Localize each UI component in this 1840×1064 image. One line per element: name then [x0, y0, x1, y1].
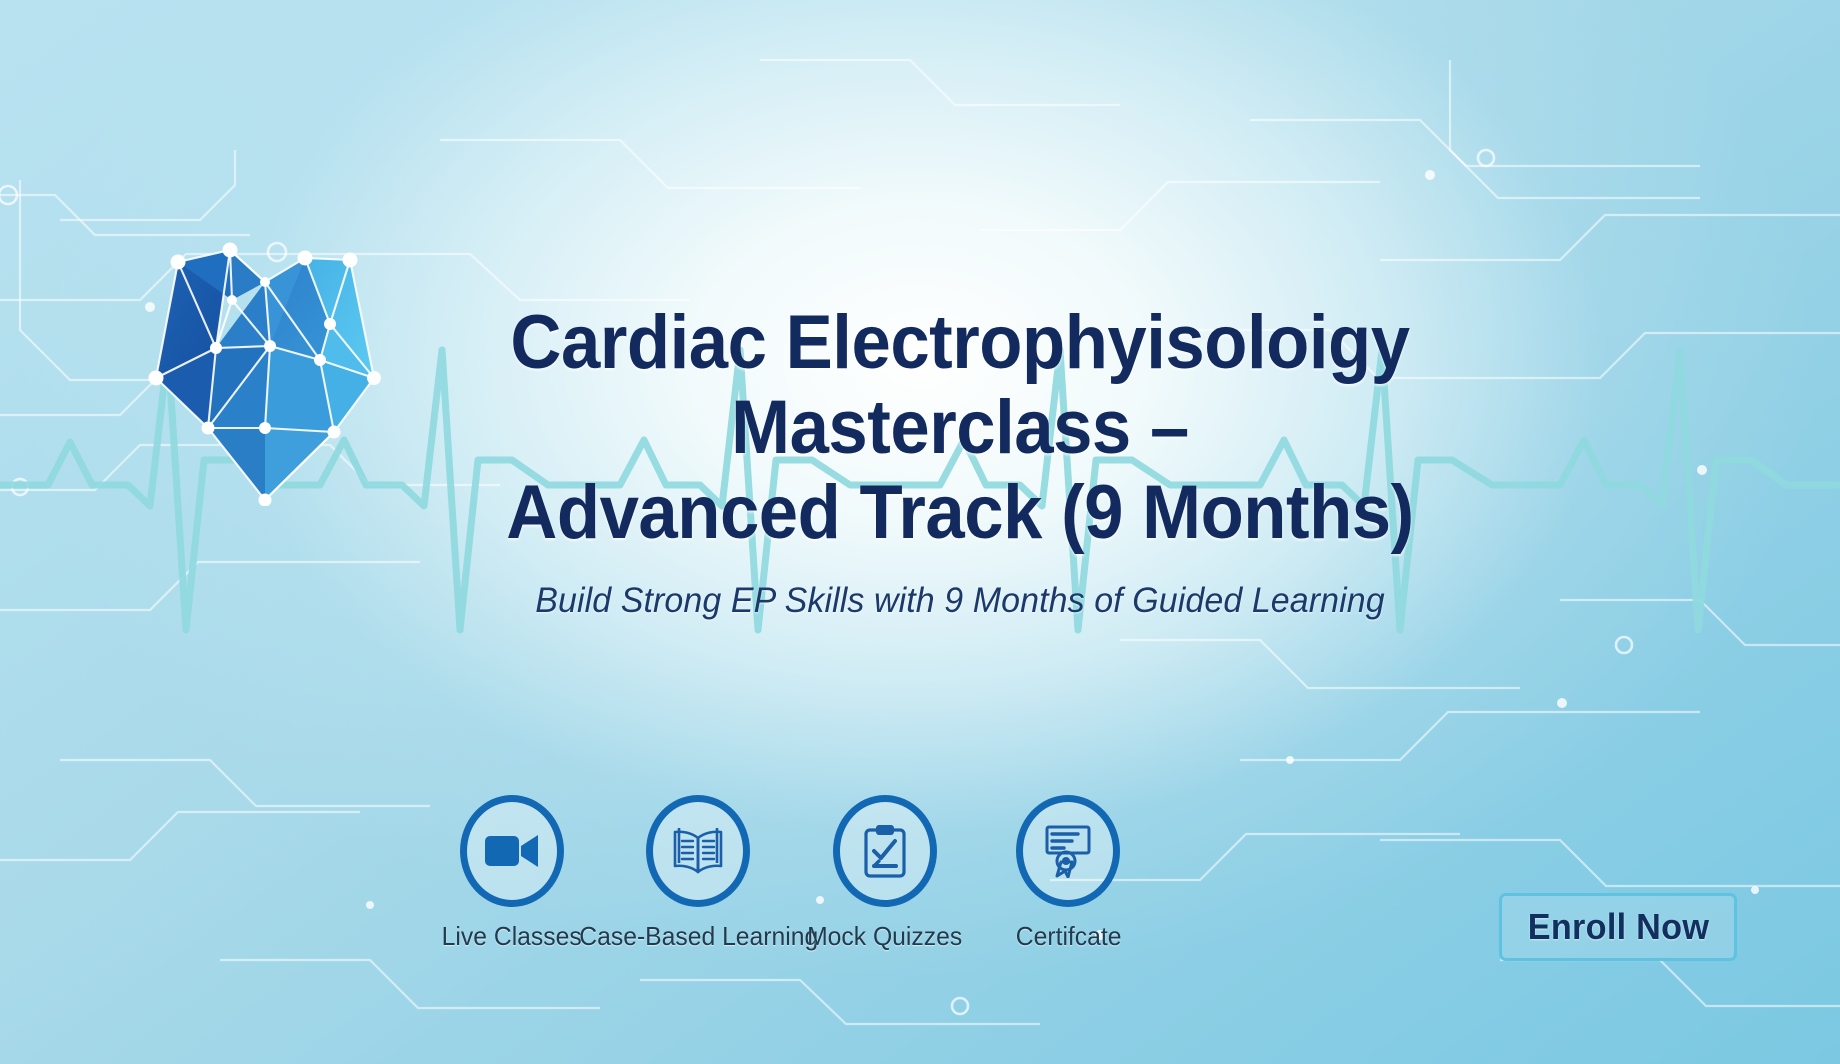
- feature-icon-ring: [1016, 795, 1120, 907]
- feature-label: Live Classes: [442, 921, 582, 952]
- enroll-now-label: Enroll Now: [1527, 906, 1708, 948]
- feature-item-case-based-learning[interactable]: Case-Based Learning: [603, 795, 793, 952]
- course-promo-banner: Cardiac Electrophyisoloigy Masterclass –…: [0, 0, 1840, 1064]
- open-book-icon: [670, 827, 726, 875]
- low-poly-heart-network-icon: [120, 228, 410, 506]
- feature-item-live-classes[interactable]: Live Classes: [420, 795, 603, 952]
- page-title: Cardiac Electrophyisoloigy Masterclass –…: [458, 300, 1462, 555]
- feature-item-mock-quizzes[interactable]: Mock Quizzes: [793, 795, 976, 952]
- headline-block: Cardiac Electrophyisoloigy Masterclass –…: [420, 300, 1500, 621]
- feature-list: Live Classes Cas: [420, 795, 1160, 952]
- clipboard-check-icon: [862, 823, 908, 879]
- title-line-1: Cardiac Electrophyisoloigy Masterclass –: [458, 300, 1462, 470]
- title-line-2: Advanced Track (9 Months): [458, 470, 1462, 555]
- feature-icon-ring: [833, 795, 937, 907]
- feature-icon-ring: [646, 795, 750, 907]
- video-camera-icon: [484, 831, 540, 871]
- feature-label: Mock Quizzes: [807, 921, 962, 952]
- feature-icon-ring: [460, 795, 564, 907]
- enroll-now-button[interactable]: Enroll Now: [1499, 893, 1737, 961]
- page-subtitle: Build Strong EP Skills with 9 Months of …: [436, 581, 1484, 621]
- certificate-award-icon: [1042, 824, 1094, 878]
- feature-item-certificate[interactable]: Certifcate: [977, 795, 1160, 952]
- feature-label: Case-Based Learning: [579, 921, 818, 952]
- feature-label: Certifcate: [1015, 921, 1121, 952]
